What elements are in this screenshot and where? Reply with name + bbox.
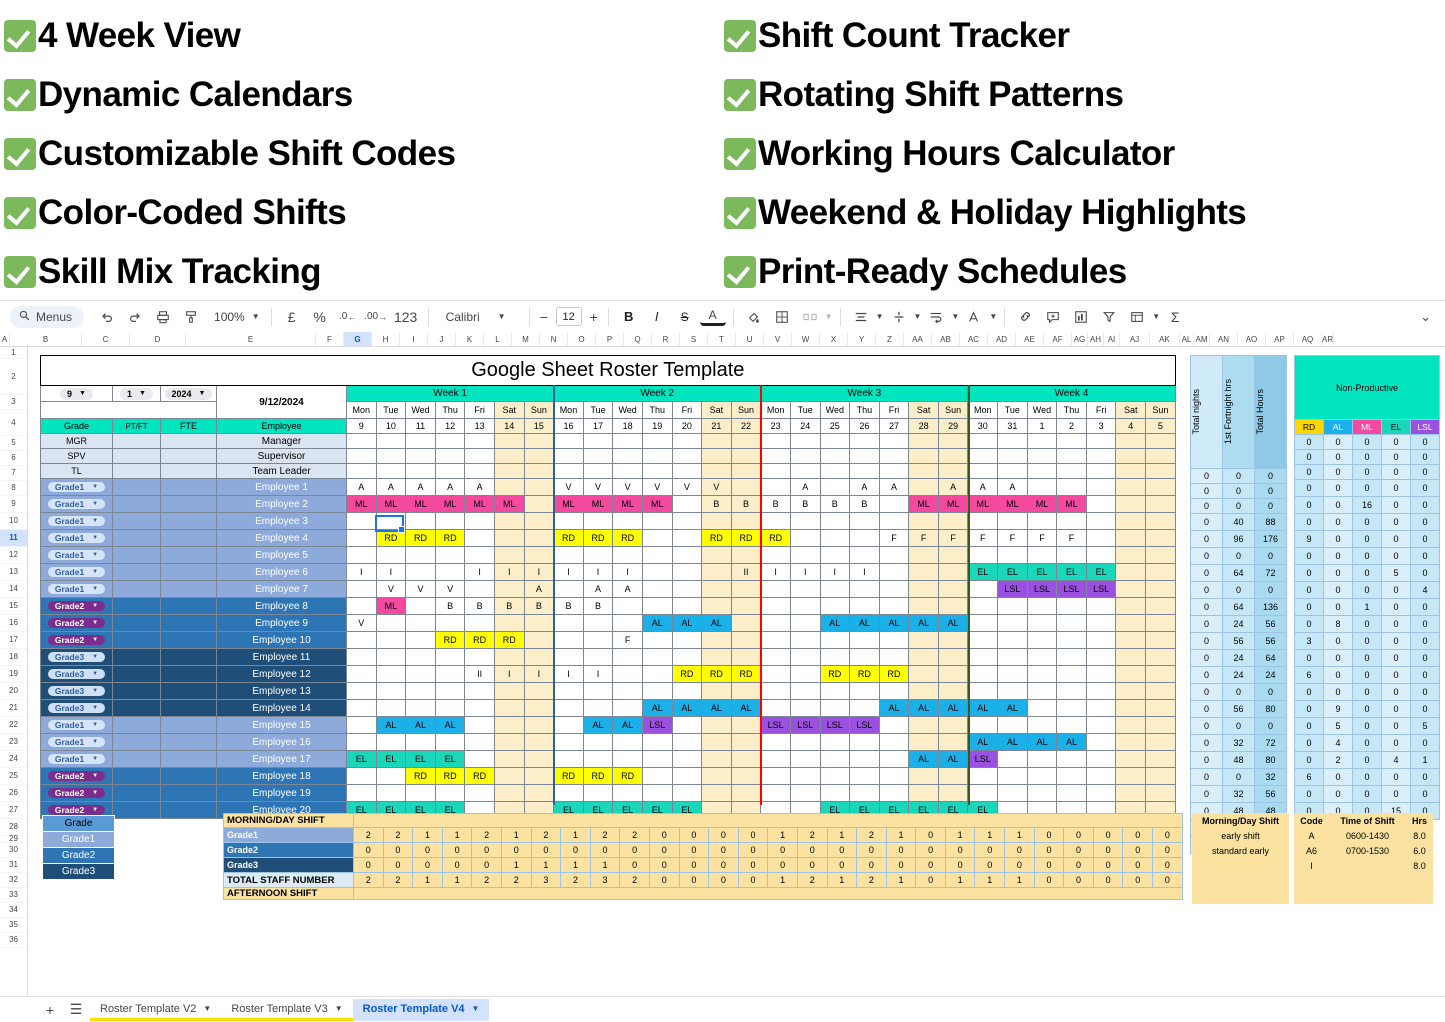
shift-cell[interactable]: EL (1086, 564, 1116, 581)
shift-cell[interactable] (406, 615, 436, 632)
column-header-f[interactable]: F (316, 332, 344, 346)
shift-cell[interactable]: F (998, 530, 1028, 547)
shift-cell[interactable] (879, 683, 909, 700)
column-header-an[interactable]: AN (1210, 332, 1238, 346)
column-header-v[interactable]: V (764, 332, 792, 346)
shift-cell[interactable]: A (613, 581, 643, 598)
shift-cell[interactable] (1146, 615, 1176, 632)
shift-cell[interactable] (1146, 449, 1176, 464)
shift-cell[interactable] (494, 513, 524, 530)
shift-cell[interactable] (406, 598, 436, 615)
shift-cell[interactable] (672, 547, 702, 564)
shift-cell[interactable] (435, 434, 465, 449)
shift-cell[interactable] (850, 683, 880, 700)
shift-cell[interactable] (642, 598, 672, 615)
shift-cell[interactable]: AL (909, 615, 939, 632)
shift-cell[interactable] (1086, 751, 1116, 768)
role-fte[interactable] (161, 434, 217, 449)
shift-cell[interactable] (1057, 666, 1087, 683)
shift-cell[interactable]: B (465, 598, 495, 615)
shift-cell[interactable]: AL (909, 700, 939, 717)
shift-cell[interactable] (1116, 581, 1146, 598)
shift-cell[interactable] (1146, 649, 1176, 666)
shift-cell[interactable] (524, 734, 554, 751)
zoom-selector[interactable]: 100% ▼ (206, 310, 264, 324)
shift-cell[interactable]: AL (435, 717, 465, 734)
shift-cell[interactable]: RD (850, 666, 880, 683)
shift-cell[interactable] (406, 513, 436, 530)
shift-cell[interactable] (524, 496, 554, 513)
shift-cell[interactable]: ML (1027, 496, 1057, 513)
fte-cell[interactable] (161, 768, 217, 785)
shift-cell[interactable] (554, 717, 584, 734)
shift-cell[interactable] (376, 649, 406, 666)
shift-cell[interactable]: ML (583, 496, 613, 513)
shift-cell[interactable] (524, 751, 554, 768)
grade-cell[interactable]: Grade1▼ (41, 530, 113, 547)
shift-cell[interactable] (702, 785, 732, 802)
shift-cell[interactable]: EL (968, 564, 998, 581)
shift-cell[interactable] (1027, 434, 1057, 449)
shift-cell[interactable]: V (702, 479, 732, 496)
shift-cell[interactable] (938, 632, 968, 649)
functions-icon[interactable] (1124, 305, 1150, 329)
shift-cell[interactable] (731, 632, 761, 649)
shift-cell[interactable]: A (465, 479, 495, 496)
shift-cell[interactable] (968, 785, 998, 802)
shift-cell[interactable] (1086, 449, 1116, 464)
ptft-cell[interactable] (113, 768, 161, 785)
grade-dropdown[interactable]: Grade3▼ (48, 686, 105, 696)
grade-cell[interactable]: Grade1▼ (41, 564, 113, 581)
shift-cell[interactable]: ML (435, 496, 465, 513)
shift-cell[interactable] (938, 581, 968, 598)
shift-cell[interactable]: F (879, 530, 909, 547)
ptft-cell[interactable] (113, 666, 161, 683)
shift-cell[interactable] (790, 768, 820, 785)
fte-cell[interactable] (161, 615, 217, 632)
shift-cell[interactable]: I (613, 564, 643, 581)
shift-cell[interactable] (820, 768, 850, 785)
fte-cell[interactable] (161, 700, 217, 717)
shift-cell[interactable] (1086, 666, 1116, 683)
chevron-down-icon[interactable]: ▼ (876, 312, 884, 321)
shift-cell[interactable] (731, 717, 761, 734)
shift-cell[interactable]: LSL (820, 717, 850, 734)
shift-cell[interactable] (761, 449, 791, 464)
shift-cell[interactable]: ML (613, 496, 643, 513)
shift-cell[interactable] (1086, 513, 1116, 530)
insert-comment-icon[interactable] (1040, 305, 1066, 329)
shift-cell[interactable]: LSL (968, 751, 998, 768)
shift-cell[interactable] (909, 564, 939, 581)
column-header-d[interactable]: D (130, 332, 186, 346)
shift-cell[interactable] (494, 530, 524, 547)
shift-cell[interactable] (406, 449, 436, 464)
fte-cell[interactable] (161, 734, 217, 751)
shift-cell[interactable] (820, 434, 850, 449)
shift-cell[interactable] (820, 449, 850, 464)
shift-cell[interactable] (376, 700, 406, 717)
shift-cell[interactable] (347, 666, 377, 683)
row-header-16[interactable]: 16 (0, 615, 27, 632)
fte-cell[interactable] (161, 581, 217, 598)
shift-cell[interactable]: I (494, 564, 524, 581)
shift-cell[interactable]: RD (554, 530, 584, 547)
shift-cell[interactable] (998, 785, 1028, 802)
shift-cell[interactable]: ML (376, 496, 406, 513)
column-header-h[interactable]: H (372, 332, 400, 346)
shift-cell[interactable] (879, 717, 909, 734)
shift-cell[interactable] (524, 449, 554, 464)
shift-cell[interactable] (998, 683, 1028, 700)
shift-cell[interactable] (642, 464, 672, 479)
grade-cell[interactable]: Grade2▼ (41, 598, 113, 615)
grade-dropdown[interactable]: Grade1▼ (48, 720, 105, 730)
shift-cell[interactable] (761, 751, 791, 768)
shift-cell[interactable] (494, 434, 524, 449)
shift-cell[interactable] (554, 464, 584, 479)
shift-cell[interactable] (435, 683, 465, 700)
shift-cell[interactable] (435, 700, 465, 717)
shift-cell[interactable] (1027, 513, 1057, 530)
row-header-10[interactable]: 10 (0, 513, 27, 530)
shift-cell[interactable] (702, 768, 732, 785)
shift-cell[interactable] (1146, 632, 1176, 649)
shift-cell[interactable] (909, 464, 939, 479)
column-header-w[interactable]: W (792, 332, 820, 346)
shift-cell[interactable] (613, 683, 643, 700)
shift-cell[interactable] (909, 449, 939, 464)
percent-format-button[interactable]: % (307, 305, 333, 329)
grade-cell[interactable]: Grade1▼ (41, 479, 113, 496)
shift-cell[interactable] (406, 785, 436, 802)
shift-cell[interactable] (494, 615, 524, 632)
shift-cell[interactable]: V (435, 581, 465, 598)
shift-cell[interactable] (1116, 513, 1146, 530)
shift-cell[interactable] (524, 530, 554, 547)
filter-icon[interactable] (1096, 305, 1122, 329)
shift-cell[interactable] (702, 751, 732, 768)
fte-cell[interactable] (161, 632, 217, 649)
shift-cell[interactable]: V (672, 479, 702, 496)
grade-dropdown[interactable]: Grade1▼ (48, 516, 105, 526)
shift-cell[interactable]: ML (642, 496, 672, 513)
shift-cell[interactable] (554, 785, 584, 802)
column-header-ap[interactable]: AP (1266, 332, 1294, 346)
shift-cell[interactable] (1116, 479, 1146, 496)
chevron-down-icon[interactable]: ▼ (989, 312, 997, 321)
grade-dropdown[interactable]: Grade3▼ (48, 652, 105, 662)
shift-cell[interactable] (731, 768, 761, 785)
shift-cell[interactable] (702, 598, 732, 615)
shift-cell[interactable] (938, 547, 968, 564)
shift-cell[interactable] (790, 615, 820, 632)
grade-dropdown[interactable]: Grade1▼ (48, 584, 105, 594)
ptft-cell[interactable] (113, 581, 161, 598)
shift-cell[interactable] (998, 449, 1028, 464)
dropdown-month[interactable]: 9▼ (41, 386, 113, 402)
shift-cell[interactable] (494, 479, 524, 496)
shift-cell[interactable] (820, 683, 850, 700)
shift-cell[interactable] (672, 530, 702, 547)
row-header-8[interactable]: 8 (0, 481, 27, 496)
shift-cell[interactable]: B (790, 496, 820, 513)
fte-cell[interactable] (161, 530, 217, 547)
shift-cell[interactable] (613, 649, 643, 666)
chevron-down-icon[interactable]: ▼ (472, 1004, 480, 1013)
column-header-q[interactable]: Q (624, 332, 652, 346)
row-header-19[interactable]: 19 (0, 666, 27, 683)
shift-cell[interactable] (790, 464, 820, 479)
shift-cell[interactable]: AL (938, 700, 968, 717)
shift-cell[interactable] (672, 496, 702, 513)
shift-cell[interactable] (494, 464, 524, 479)
row-header-13[interactable]: 13 (0, 564, 27, 581)
shift-cell[interactable] (642, 751, 672, 768)
shift-cell[interactable] (613, 666, 643, 683)
shift-cell[interactable] (494, 649, 524, 666)
shift-cell[interactable] (968, 598, 998, 615)
grade-dropdown[interactable]: Grade1▼ (48, 533, 105, 543)
shift-cell[interactable] (1116, 683, 1146, 700)
grade-dropdown[interactable]: Grade2▼ (48, 805, 105, 815)
shift-cell[interactable] (347, 581, 377, 598)
shift-cell[interactable] (494, 734, 524, 751)
font-size-input[interactable]: 12 (556, 307, 582, 326)
shift-cell[interactable]: AL (672, 615, 702, 632)
shift-cell[interactable] (879, 434, 909, 449)
grade-cell[interactable]: Grade3▼ (41, 649, 113, 666)
shift-cell[interactable] (850, 751, 880, 768)
shift-cell[interactable] (524, 683, 554, 700)
ptft-cell[interactable] (113, 717, 161, 734)
shift-cell[interactable] (998, 768, 1028, 785)
shift-cell[interactable]: EL (347, 751, 377, 768)
shift-cell[interactable] (790, 683, 820, 700)
shift-cell[interactable] (524, 547, 554, 564)
insert-link-icon[interactable] (1012, 305, 1038, 329)
shift-cell[interactable]: B (494, 598, 524, 615)
row-header-31[interactable]: 31 (0, 858, 27, 873)
shift-cell[interactable] (1116, 464, 1146, 479)
fte-cell[interactable] (161, 479, 217, 496)
shift-cell[interactable] (642, 734, 672, 751)
shift-cell[interactable] (790, 547, 820, 564)
shift-cell[interactable] (968, 464, 998, 479)
row-header-20[interactable]: 20 (0, 683, 27, 700)
fte-cell[interactable] (161, 649, 217, 666)
shift-cell[interactable]: ML (406, 496, 436, 513)
row-header-7[interactable]: 7 (0, 466, 27, 481)
employee-name[interactable]: Employee 2 (217, 496, 347, 513)
employee-name[interactable]: Employee 10 (217, 632, 347, 649)
shift-cell[interactable]: AL (850, 615, 880, 632)
shift-cell[interactable] (583, 649, 613, 666)
shift-cell[interactable] (672, 449, 702, 464)
row-header-17[interactable]: 17 (0, 632, 27, 649)
shift-cell[interactable] (790, 598, 820, 615)
shift-cell[interactable] (998, 513, 1028, 530)
row-header-11[interactable]: 11 (0, 530, 27, 547)
column-header-aj[interactable]: AJ (1120, 332, 1150, 346)
shift-cell[interactable] (406, 700, 436, 717)
shift-cell[interactable] (790, 666, 820, 683)
shift-cell[interactable] (642, 434, 672, 449)
ptft-cell[interactable] (113, 649, 161, 666)
row-header-3[interactable]: 3 (0, 395, 27, 410)
shift-cell[interactable]: ML (1057, 496, 1087, 513)
shift-cell[interactable] (1146, 666, 1176, 683)
shift-cell[interactable]: LSL (998, 581, 1028, 598)
shift-cell[interactable] (554, 581, 584, 598)
shift-cell[interactable] (879, 768, 909, 785)
shift-cell[interactable] (879, 734, 909, 751)
shift-cell[interactable] (1146, 683, 1176, 700)
shift-cell[interactable] (672, 464, 702, 479)
shift-cell[interactable]: II (465, 666, 495, 683)
shift-cell[interactable]: AL (702, 615, 732, 632)
shift-cell[interactable] (347, 547, 377, 564)
shift-cell[interactable]: AL (879, 700, 909, 717)
shift-cell[interactable] (761, 683, 791, 700)
shift-cell[interactable] (435, 734, 465, 751)
shift-cell[interactable]: RD (583, 530, 613, 547)
shift-cell[interactable] (672, 785, 702, 802)
shift-cell[interactable] (1027, 598, 1057, 615)
shift-cell[interactable] (761, 768, 791, 785)
row-header-26[interactable]: 26 (0, 785, 27, 802)
shift-cell[interactable] (790, 785, 820, 802)
shift-cell[interactable]: A (998, 479, 1028, 496)
row-header-25[interactable]: 25 (0, 768, 27, 785)
shift-cell[interactable] (998, 751, 1028, 768)
row-header-5[interactable]: 5 (0, 436, 27, 451)
column-header-o[interactable]: O (568, 332, 596, 346)
shift-cell[interactable] (731, 464, 761, 479)
ptft-cell[interactable] (113, 564, 161, 581)
column-header-j[interactable]: J (428, 332, 456, 346)
ptft-cell[interactable] (113, 734, 161, 751)
row-header-12[interactable]: 12 (0, 547, 27, 564)
shift-cell[interactable] (998, 615, 1028, 632)
shift-cell[interactable] (790, 513, 820, 530)
shift-cell[interactable]: LSL (1057, 581, 1087, 598)
ptft-cell[interactable] (113, 598, 161, 615)
strikethrough-button[interactable]: S (672, 305, 698, 329)
shift-cell[interactable]: RD (435, 768, 465, 785)
shift-cell[interactable] (879, 649, 909, 666)
shift-cell[interactable] (790, 632, 820, 649)
shift-cell[interactable] (347, 530, 377, 547)
shift-cell[interactable]: ML (909, 496, 939, 513)
shift-cell[interactable] (613, 513, 643, 530)
ptft-cell[interactable] (113, 530, 161, 547)
shift-cell[interactable]: V (347, 615, 377, 632)
shift-cell[interactable] (968, 449, 998, 464)
fill-color-icon[interactable] (741, 305, 767, 329)
shift-cell[interactable] (1146, 768, 1176, 785)
shift-cell[interactable]: AL (998, 734, 1028, 751)
shift-cell[interactable] (820, 751, 850, 768)
shift-cell[interactable]: A (968, 479, 998, 496)
shift-cell[interactable]: AL (376, 717, 406, 734)
grade-dropdown[interactable]: Grade1▼ (48, 482, 105, 492)
shift-cell[interactable]: EL (435, 751, 465, 768)
shift-cell[interactable] (554, 649, 584, 666)
shift-cell[interactable]: F (938, 530, 968, 547)
shift-cell[interactable] (850, 449, 880, 464)
add-sheet-icon[interactable]: + (38, 998, 62, 1022)
shift-cell[interactable] (1146, 464, 1176, 479)
shift-cell[interactable]: A (879, 479, 909, 496)
shift-cell[interactable]: I (376, 564, 406, 581)
shift-cell[interactable] (702, 683, 732, 700)
shift-cell[interactable]: B (850, 496, 880, 513)
shift-cell[interactable]: LSL (761, 717, 791, 734)
shift-cell[interactable]: B (435, 598, 465, 615)
sheet-tab[interactable]: Roster Template V2▼ (90, 999, 221, 1021)
shift-cell[interactable] (465, 530, 495, 547)
shift-cell[interactable]: RD (613, 530, 643, 547)
shift-cell[interactable] (1116, 751, 1146, 768)
shift-cell[interactable] (524, 632, 554, 649)
shift-cell[interactable] (406, 434, 436, 449)
shift-cell[interactable]: AL (879, 615, 909, 632)
shift-cell[interactable] (1146, 751, 1176, 768)
shift-cell[interactable] (879, 785, 909, 802)
fte-cell[interactable] (161, 666, 217, 683)
shift-cell[interactable] (554, 751, 584, 768)
shift-cell[interactable] (1086, 649, 1116, 666)
shift-cell[interactable] (1116, 649, 1146, 666)
shift-cell[interactable] (672, 513, 702, 530)
sheet-canvas[interactable]: Google Sheet Roster Template9▼1▼2024▼9/1… (28, 347, 1445, 1007)
grade-cell[interactable]: Grade3▼ (41, 700, 113, 717)
shift-cell[interactable] (613, 598, 643, 615)
shift-cell[interactable]: V (642, 479, 672, 496)
shift-cell[interactable] (702, 449, 732, 464)
shift-cell[interactable] (347, 683, 377, 700)
column-header-ak[interactable]: AK (1150, 332, 1180, 346)
shift-cell[interactable] (761, 666, 791, 683)
grade-cell[interactable]: Grade2▼ (41, 632, 113, 649)
shift-cell[interactable]: A (524, 581, 554, 598)
shift-cell[interactable] (909, 632, 939, 649)
shift-cell[interactable] (465, 449, 495, 464)
shift-cell[interactable]: RD (465, 632, 495, 649)
bold-button[interactable]: B (616, 305, 642, 329)
grade-dropdown[interactable]: Grade1▼ (48, 567, 105, 577)
shift-cell[interactable] (1146, 479, 1176, 496)
shift-cell[interactable] (850, 464, 880, 479)
shift-cell[interactable] (347, 785, 377, 802)
shift-cell[interactable] (347, 513, 377, 530)
fte-cell[interactable] (161, 598, 217, 615)
grade-cell[interactable]: Grade1▼ (41, 581, 113, 598)
shift-cell[interactable] (554, 615, 584, 632)
shift-cell[interactable] (583, 700, 613, 717)
column-header-ad[interactable]: AD (988, 332, 1016, 346)
shift-cell[interactable] (1116, 734, 1146, 751)
fte-cell[interactable] (161, 785, 217, 802)
grade-dropdown[interactable]: Grade2▼ (48, 635, 105, 645)
shift-cell[interactable]: F (1027, 530, 1057, 547)
shift-cell[interactable] (524, 785, 554, 802)
shift-cell[interactable] (702, 434, 732, 449)
non-productive-table[interactable]: Non-ProductiveRDALMLELLSL000000000000000… (1294, 355, 1440, 820)
shift-cell[interactable] (998, 464, 1028, 479)
